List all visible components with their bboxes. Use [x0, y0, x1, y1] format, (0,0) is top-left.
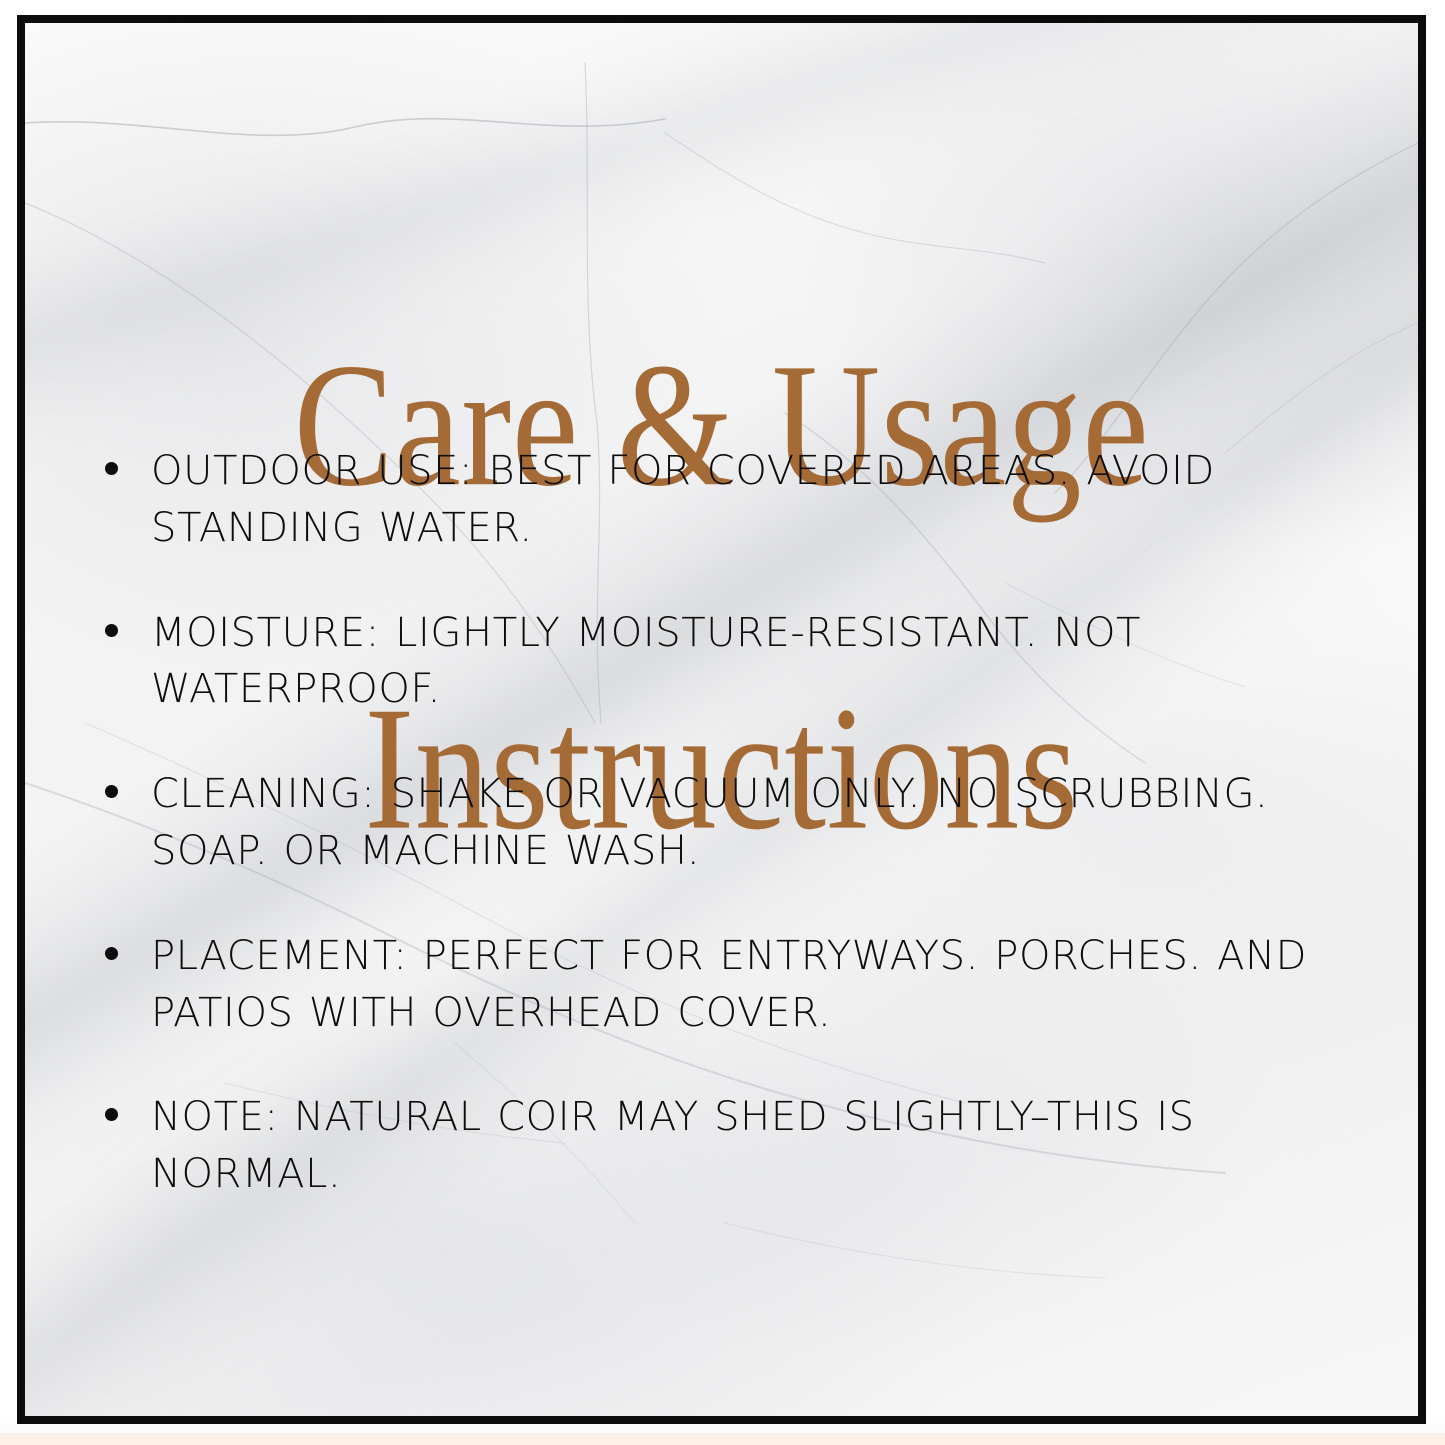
list-item-note: NOTE: NATURAL COIR MAY SHED SLIGHTLY–THI…	[87, 1089, 1360, 1203]
bullet-dot-icon	[105, 785, 118, 798]
list-item-text: PLACEMENT: PERFECT FOR ENTRYWAYS. PORCHE…	[151, 928, 1360, 1042]
list-item-cleaning: CLEANING: SHAKE OR VACUUM ONLY. NO SCRUB…	[87, 766, 1360, 880]
list-item-moisture: MOISTURE: LIGHTLY MOISTURE-RESISTANT. NO…	[87, 605, 1360, 719]
list-item-text: CLEANING: SHAKE OR VACUUM ONLY. NO SCRUB…	[151, 766, 1360, 880]
list-item-outdoor-use: OUTDOOR USE: BEST FOR COVERED AREAS. AVO…	[87, 443, 1360, 557]
bottom-white-strip	[0, 1423, 1445, 1433]
bullet-dot-icon	[105, 947, 118, 960]
bullet-dot-icon	[105, 1108, 118, 1121]
bullet-dot-icon	[105, 624, 118, 637]
list-item-placement: PLACEMENT: PERFECT FOR ENTRYWAYS. PORCHE…	[87, 928, 1360, 1042]
list-item-text: OUTDOOR USE: BEST FOR COVERED AREAS. AVO…	[151, 443, 1360, 557]
list-item-text: NOTE: NATURAL COIR MAY SHED SLIGHTLY–THI…	[151, 1089, 1360, 1203]
bullet-dot-icon	[105, 462, 118, 475]
instructions-list: OUTDOOR USE: BEST FOR COVERED AREAS. AVO…	[87, 443, 1360, 1203]
list-item-text: MOISTURE: LIGHTLY MOISTURE-RESISTANT. NO…	[151, 605, 1360, 719]
bordered-card: Care & Usage Instructions OUTDOOR USE: B…	[17, 15, 1426, 1424]
care-instructions-graphic: Care & Usage Instructions OUTDOOR USE: B…	[0, 0, 1445, 1445]
bottom-cream-strip	[0, 1433, 1445, 1445]
